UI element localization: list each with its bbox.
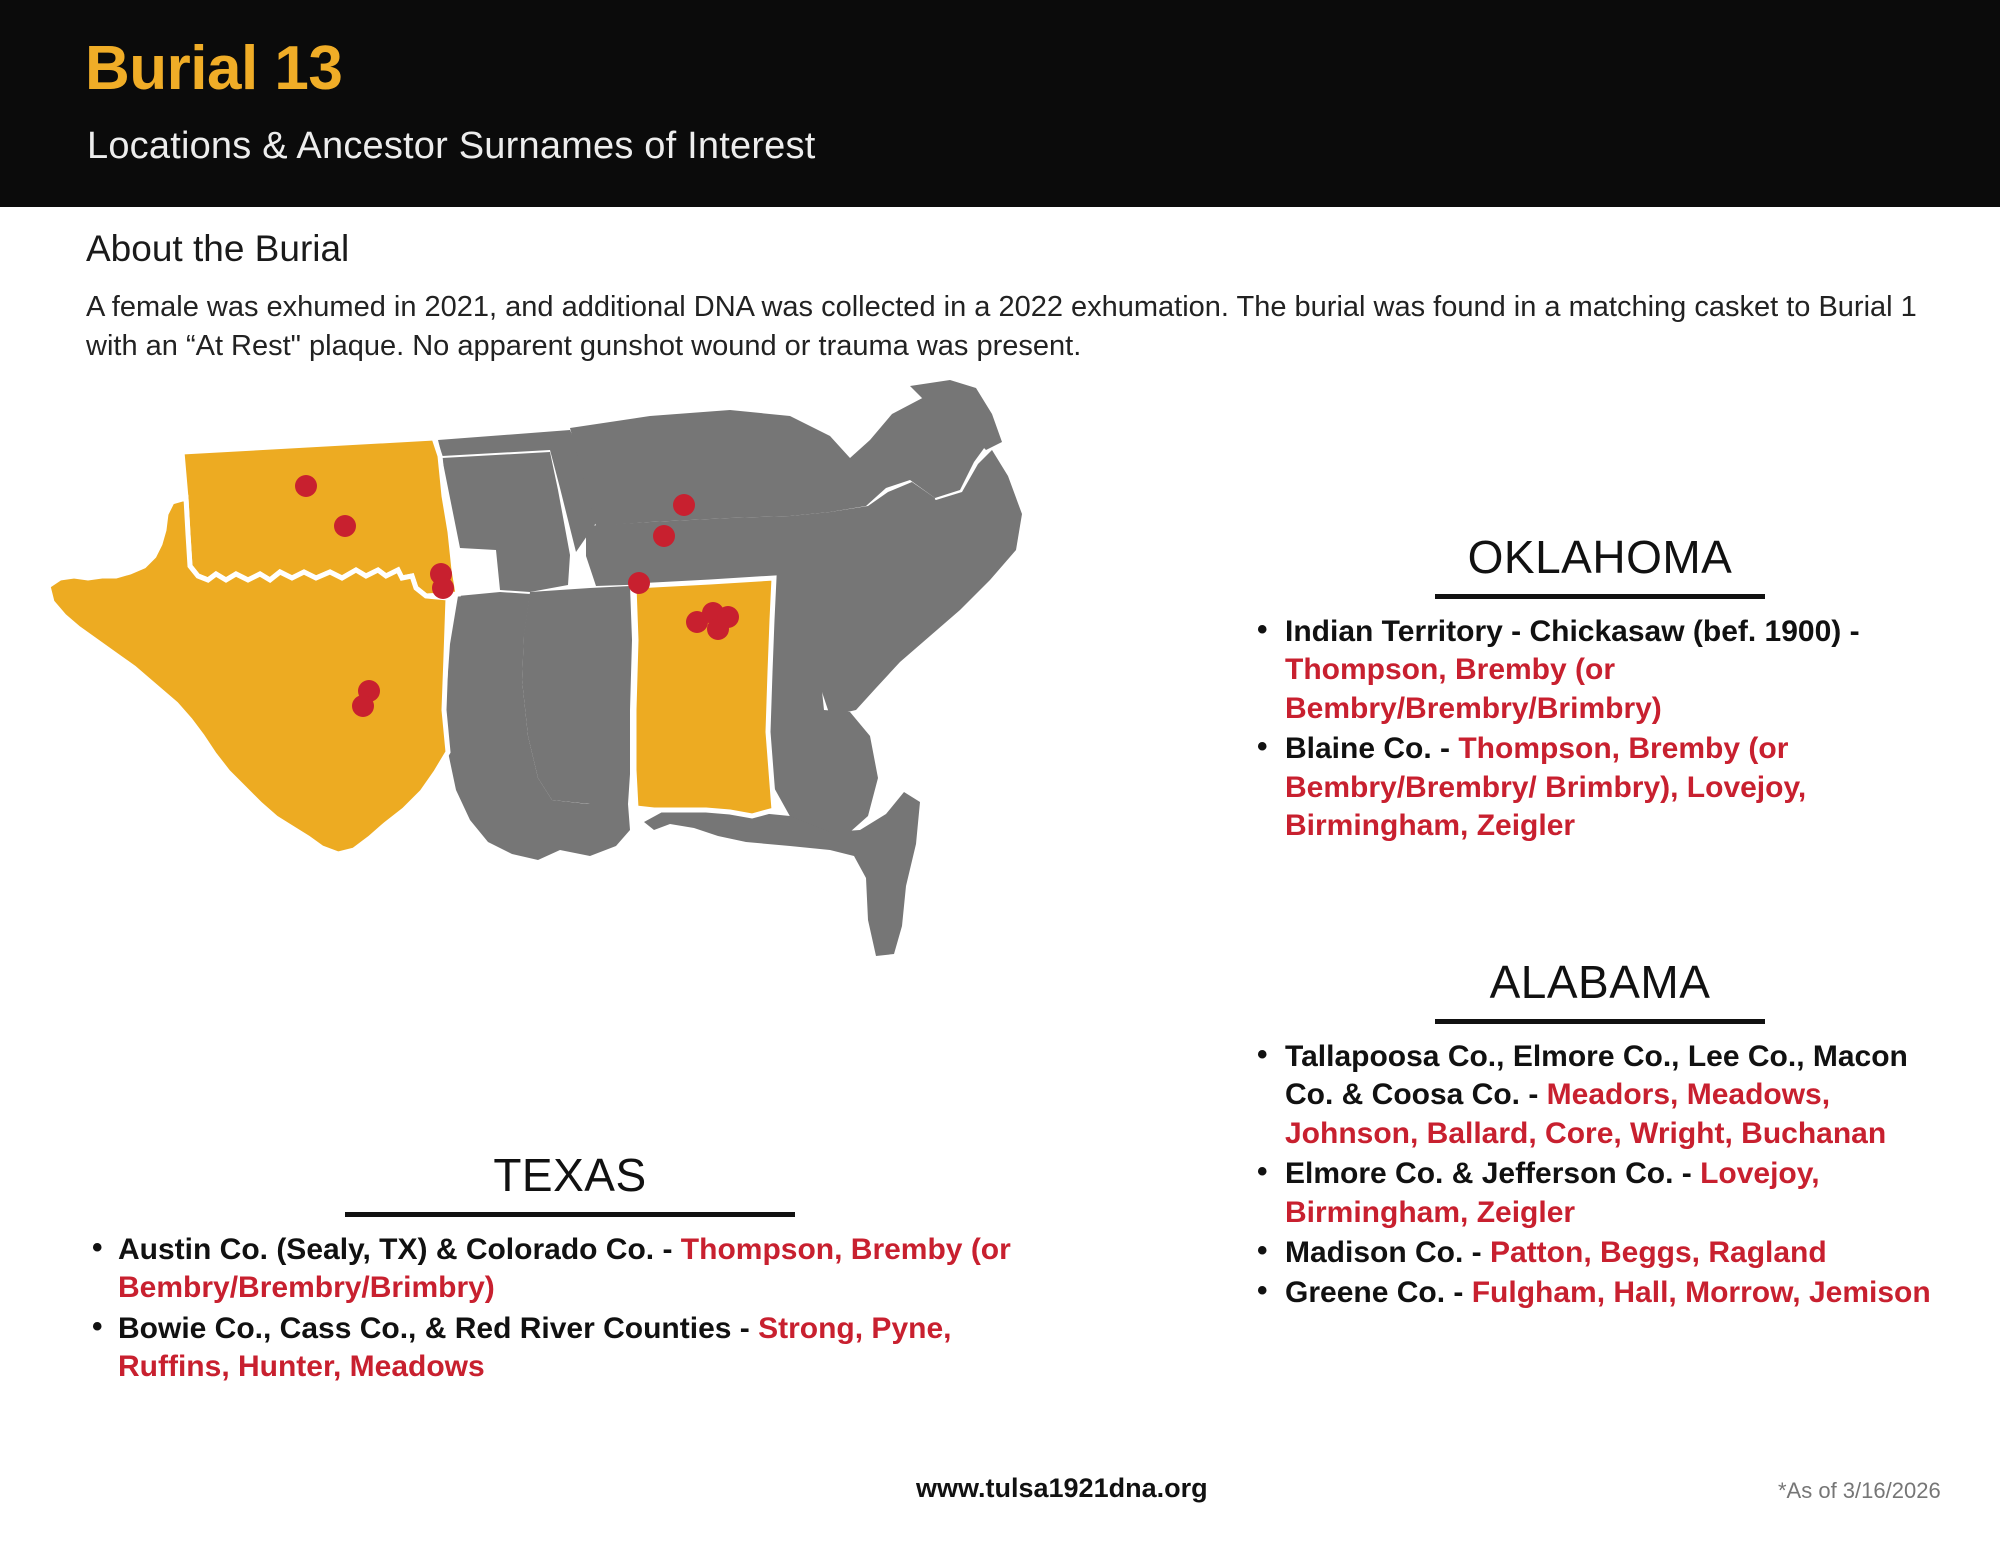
map-states: [48, 380, 1022, 956]
list-item: Greene Co. - Fulgham, Hall, Morrow, Jemi…: [1245, 1274, 1955, 1312]
alabama-section: ALABAMA Tallapoosa Co., Elmore Co., Lee …: [1245, 955, 1955, 1315]
map-svg: [30, 380, 1310, 1100]
alabama-list: Tallapoosa Co., Elmore Co., Lee Co., Mac…: [1245, 1038, 1955, 1313]
texas-section: TEXAS Austin Co. (Sealy, TX) & Colorado …: [70, 1148, 1070, 1389]
place-label: Austin Co. (Sealy, TX) & Colorado Co. -: [118, 1233, 681, 1266]
place-label: Blaine Co. -: [1285, 732, 1458, 765]
surnames-label: Fulgham, Hall, Morrow, Jemison: [1472, 1276, 1931, 1309]
map-location-marker: [673, 494, 695, 516]
oklahoma-title-underline: [1435, 594, 1765, 599]
oklahoma-list: Indian Territory - Chickasaw (bef. 1900)…: [1245, 613, 1955, 845]
map-location-marker: [717, 606, 739, 628]
place-label: Elmore Co. & Jefferson Co. -: [1285, 1157, 1700, 1190]
website-url[interactable]: www.tulsa1921dna.org: [916, 1473, 1208, 1504]
state-oklahoma-highlight: [182, 438, 458, 596]
texas-title: TEXAS: [70, 1148, 1070, 1202]
place-label: Bowie Co., Cass Co., & Red River Countie…: [118, 1312, 758, 1345]
state-arkansas: [442, 452, 570, 592]
oklahoma-section: OKLAHOMA Indian Territory - Chickasaw (b…: [1245, 530, 1955, 847]
list-item: Tallapoosa Co., Elmore Co., Lee Co., Mac…: [1245, 1038, 1955, 1153]
alabama-title: ALABAMA: [1245, 955, 1955, 1009]
page-title: Burial 13: [85, 36, 342, 101]
map-location-marker: [432, 577, 454, 599]
infographic-page: Burial 13 Locations & Ancestor Surnames …: [0, 0, 2000, 1545]
map-location-marker: [352, 695, 374, 717]
list-item: Elmore Co. & Jefferson Co. - Lovejoy, Bi…: [1245, 1155, 1955, 1232]
state-florida: [644, 792, 920, 956]
map-location-marker: [628, 572, 650, 594]
list-item: Bowie Co., Cass Co., & Red River Countie…: [70, 1310, 1070, 1387]
state-mississippi: [522, 586, 632, 804]
oklahoma-title: OKLAHOMA: [1245, 530, 1955, 584]
surnames-label: Patton, Beggs, Ragland: [1490, 1236, 1827, 1269]
list-item: Blaine Co. - Thompson, Bremby (or Bembry…: [1245, 730, 1955, 845]
surnames-label: Thompson, Bremby (or Bembry/Brembry/Brim…: [1285, 653, 1662, 724]
about-body-text: A female was exhumed in 2021, and additi…: [86, 288, 1941, 365]
place-label: Madison Co. -: [1285, 1236, 1490, 1269]
map-location-marker: [334, 515, 356, 537]
list-item: Madison Co. - Patton, Beggs, Ragland: [1245, 1234, 1955, 1272]
map-location-marker: [653, 525, 675, 547]
about-heading: About the Burial: [86, 228, 349, 270]
place-label: Greene Co. -: [1285, 1276, 1472, 1309]
alabama-title-underline: [1435, 1019, 1765, 1024]
texas-title-underline: [345, 1212, 795, 1217]
list-item: Austin Co. (Sealy, TX) & Colorado Co. - …: [70, 1231, 1070, 1308]
texas-list: Austin Co. (Sealy, TX) & Colorado Co. - …: [70, 1231, 1070, 1387]
as-of-date: *As of 3/16/2026: [1778, 1478, 1941, 1504]
southern-us-map: [30, 380, 1310, 1100]
list-item: Indian Territory - Chickasaw (bef. 1900)…: [1245, 613, 1955, 728]
header-banner: Burial 13 Locations & Ancestor Surnames …: [0, 0, 2000, 207]
map-location-marker: [295, 475, 317, 497]
page-subtitle: Locations & Ancestor Surnames of Interes…: [87, 125, 815, 168]
place-label: Indian Territory - Chickasaw (bef. 1900)…: [1285, 615, 1860, 648]
